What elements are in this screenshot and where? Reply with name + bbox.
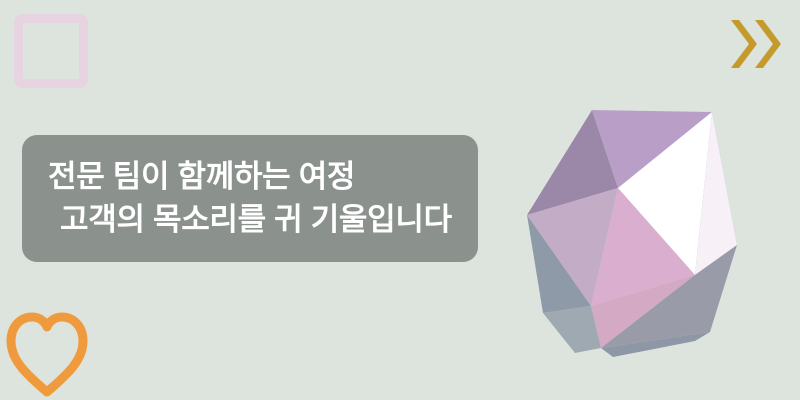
headline-line-1: 전문 팀이 함께하는 여정 — [48, 156, 478, 199]
promo-banner: 전문 팀이 함께하는 여정 고객의 목소리를 귀 기울입니다 — [0, 0, 800, 400]
headline-line-2: 고객의 목소리를 귀 기울입니다 — [48, 199, 478, 242]
double-chevron-right-icon — [729, 16, 785, 72]
chevron-first — [731, 20, 757, 68]
heart-path — [11, 317, 83, 392]
chevron-second — [755, 20, 781, 68]
heart-outline-icon — [6, 308, 88, 400]
face-edge-shadow-left — [543, 306, 601, 353]
icosahedron-illustration — [505, 85, 800, 375]
headline-plate: 전문 팀이 함께하는 여정 고객의 목소리를 귀 기울입니다 — [22, 135, 478, 262]
square-outline-icon — [14, 14, 88, 88]
